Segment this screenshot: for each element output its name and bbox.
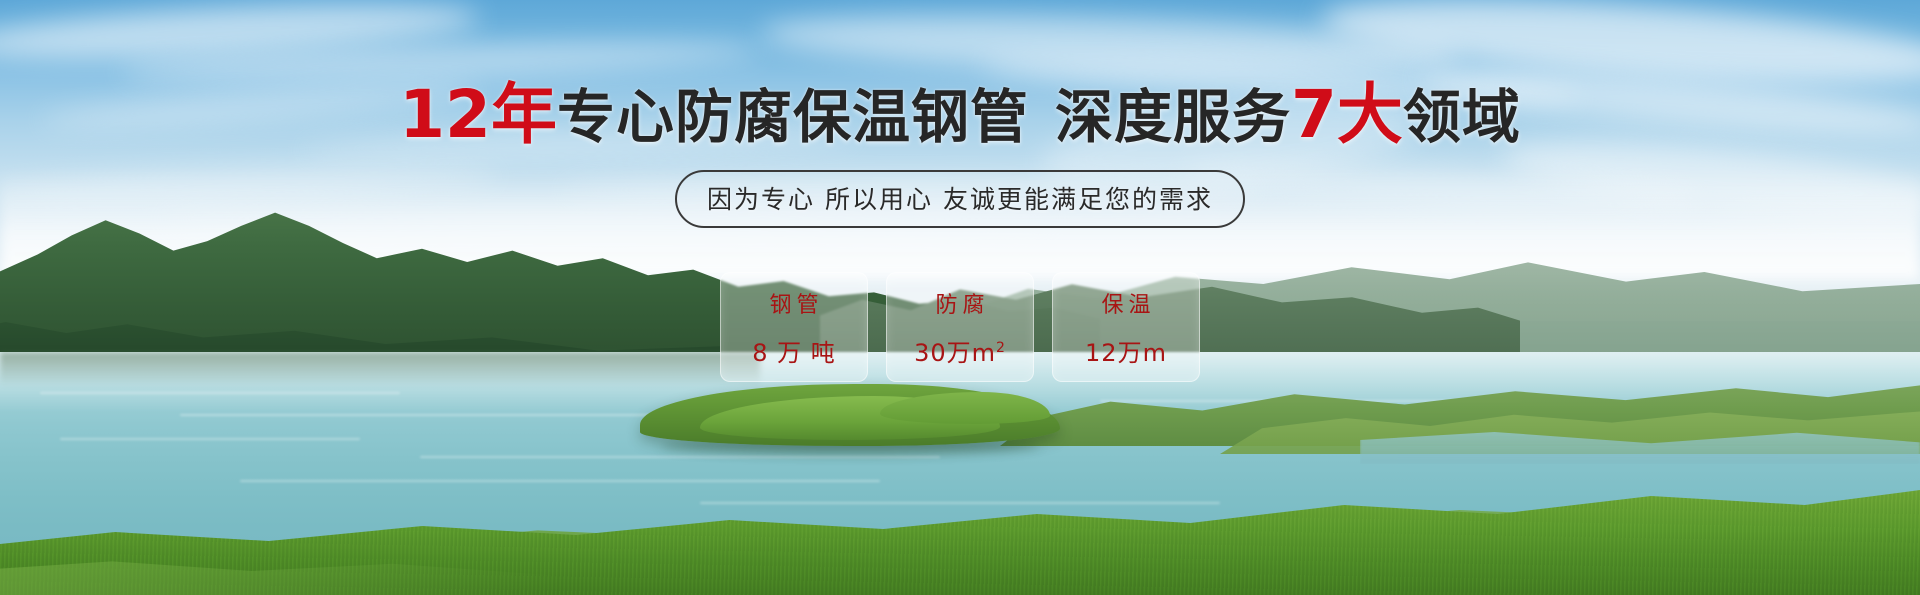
stat-card-label: 保温 <box>1096 287 1155 319</box>
stat-card-value: 30万m2 <box>914 333 1006 368</box>
headline-years-unit: 年 <box>491 76 557 153</box>
stat-card-anticorrosion[interactable]: 防腐 30万m2 <box>886 272 1034 382</box>
stat-card-value-main: 12万m <box>1085 339 1167 367</box>
hero-banner: 12年专心防腐保温钢管深度服务7大领域 因为专心 所以用心 友诚更能满足您的需求… <box>0 0 1920 595</box>
stat-card-value-main: 8 万 吨 <box>752 339 836 367</box>
subtitle-pill: 因为专心 所以用心 友诚更能满足您的需求 <box>675 170 1245 228</box>
stat-cards: 钢管 8 万 吨 防腐 30万m2 保温 12万m <box>720 272 1200 382</box>
headline-service-phrase: 深度服务 <box>1055 83 1291 151</box>
stat-card-value-main: 30万m <box>914 339 996 367</box>
headline-fields-number: 7 <box>1291 76 1337 153</box>
stat-card-steel-pipe[interactable]: 钢管 8 万 吨 <box>720 272 868 382</box>
stat-card-value-superscript: 2 <box>996 340 1006 356</box>
stat-card-label: 钢管 <box>764 287 823 319</box>
stat-card-value: 8 万 吨 <box>752 333 836 368</box>
stat-card-label: 防腐 <box>930 287 989 319</box>
headline-fields-unit: 大 <box>1337 76 1403 153</box>
subtitle-text: 因为专心 所以用心 友诚更能满足您的需求 <box>707 180 1213 216</box>
headline-main-phrase: 专心防腐保温钢管 <box>557 83 1029 151</box>
headline-years-number: 12 <box>399 76 491 153</box>
stat-card-insulation[interactable]: 保温 12万m <box>1052 272 1200 382</box>
headline: 12年专心防腐保温钢管深度服务7大领域 <box>399 82 1521 148</box>
stat-card-value: 12万m <box>1085 333 1167 368</box>
banner-content: 12年专心防腐保温钢管深度服务7大领域 因为专心 所以用心 友诚更能满足您的需求… <box>0 0 1920 595</box>
headline-fields-word: 领域 <box>1403 83 1521 151</box>
